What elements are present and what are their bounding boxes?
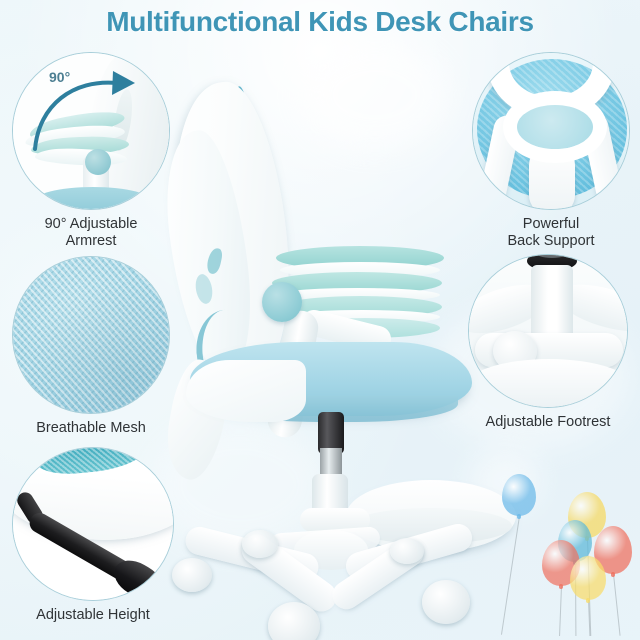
balloon-decoration: [486, 468, 640, 640]
balloon-string: [559, 586, 562, 636]
product-image-chair: [150, 60, 500, 620]
balloon-string: [613, 574, 621, 636]
feature-armrest: 90° 90° Adjustable Armrest: [12, 52, 170, 250]
chair-caster: [172, 558, 212, 592]
armrest-illustration: 90°: [13, 53, 169, 209]
feature-image-armrest: 90°: [12, 52, 170, 210]
rotation-arrow-icon: [13, 53, 169, 209]
caption-line-1: Breathable Mesh: [12, 420, 170, 437]
caption-line-2: Armrest: [12, 233, 170, 250]
angle-badge: 90°: [49, 69, 70, 85]
chair-caster: [422, 580, 470, 624]
feature-caption-armrest: 90° Adjustable Armrest: [12, 216, 170, 250]
page-title: Multifunctional Kids Desk Chairs: [0, 6, 640, 38]
balloon-blue: [502, 474, 536, 516]
feature-mesh: Breathable Mesh: [12, 256, 170, 437]
height-lever-illustration: [13, 448, 173, 600]
back-support-cushion: [517, 105, 593, 149]
caption-line-1: 90° Adjustable: [12, 216, 170, 233]
feature-image-mesh: [12, 256, 170, 414]
balloon-string: [501, 516, 520, 635]
product-infographic: Multifunctional Kids Desk Chairs 90° 9: [0, 0, 640, 640]
chair-caster: [242, 530, 278, 558]
mesh-texture-illustration: [13, 257, 169, 413]
balloon-yellow2: [570, 556, 606, 600]
chair-seat-frame: [186, 360, 306, 422]
feature-caption-mesh: Breathable Mesh: [12, 420, 170, 437]
chair-armrest-pivot-knob: [262, 282, 302, 322]
chair-caster: [390, 538, 424, 564]
back-frame-center: [529, 145, 575, 210]
